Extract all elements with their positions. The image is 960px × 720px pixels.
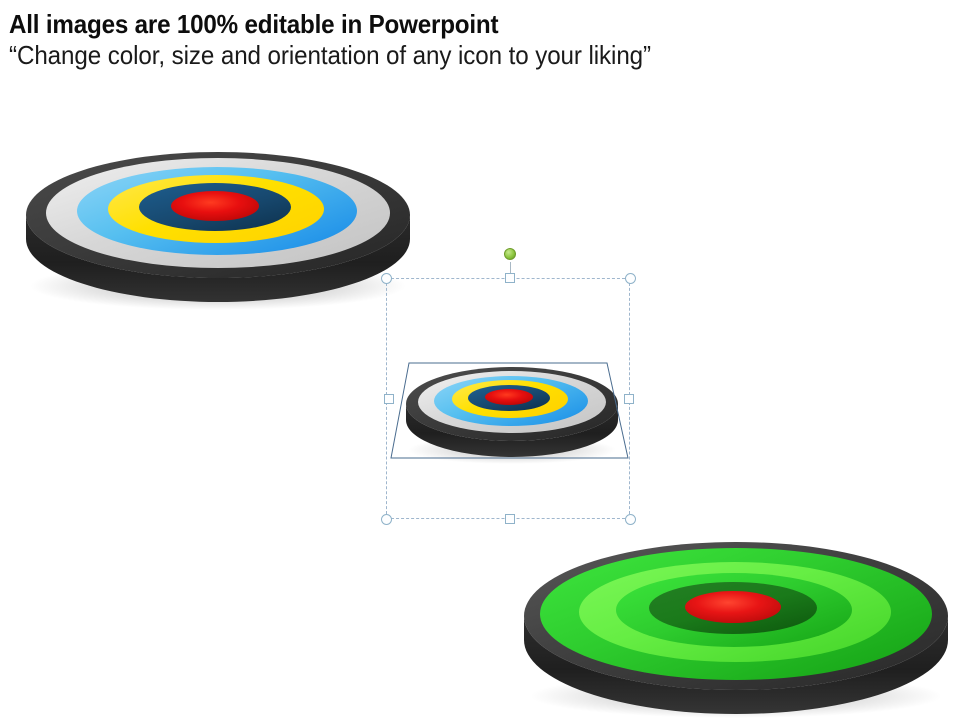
handle-bottom-center[interactable] [505, 514, 515, 524]
slide-canvas[interactable]: All images are 100% editable in Powerpoi… [0, 0, 960, 720]
handle-bottom-left[interactable] [381, 514, 392, 525]
handle-top-right[interactable] [625, 273, 636, 284]
ring-red-bullseye [171, 191, 259, 221]
handle-top-center[interactable] [505, 273, 515, 283]
handle-middle-left[interactable] [384, 394, 394, 404]
headline-text-block[interactable]: All images are 100% editable in Powerpoi… [9, 9, 909, 71]
rotation-handle-stem [510, 262, 511, 279]
handle-bottom-right[interactable] [625, 514, 636, 525]
headline-line-1: All images are 100% editable in Powerpoi… [9, 9, 846, 39]
ring-red-bullseye [685, 591, 781, 623]
green-target-icon[interactable] [512, 530, 960, 720]
large-blue-target-icon[interactable] [10, 140, 430, 310]
headline-line-2: “Change color, size and orientation of a… [9, 39, 846, 71]
ring-red-bullseye [485, 389, 533, 405]
rotation-handle[interactable] [504, 248, 516, 260]
small-blue-target-icon[interactable] [396, 354, 628, 464]
